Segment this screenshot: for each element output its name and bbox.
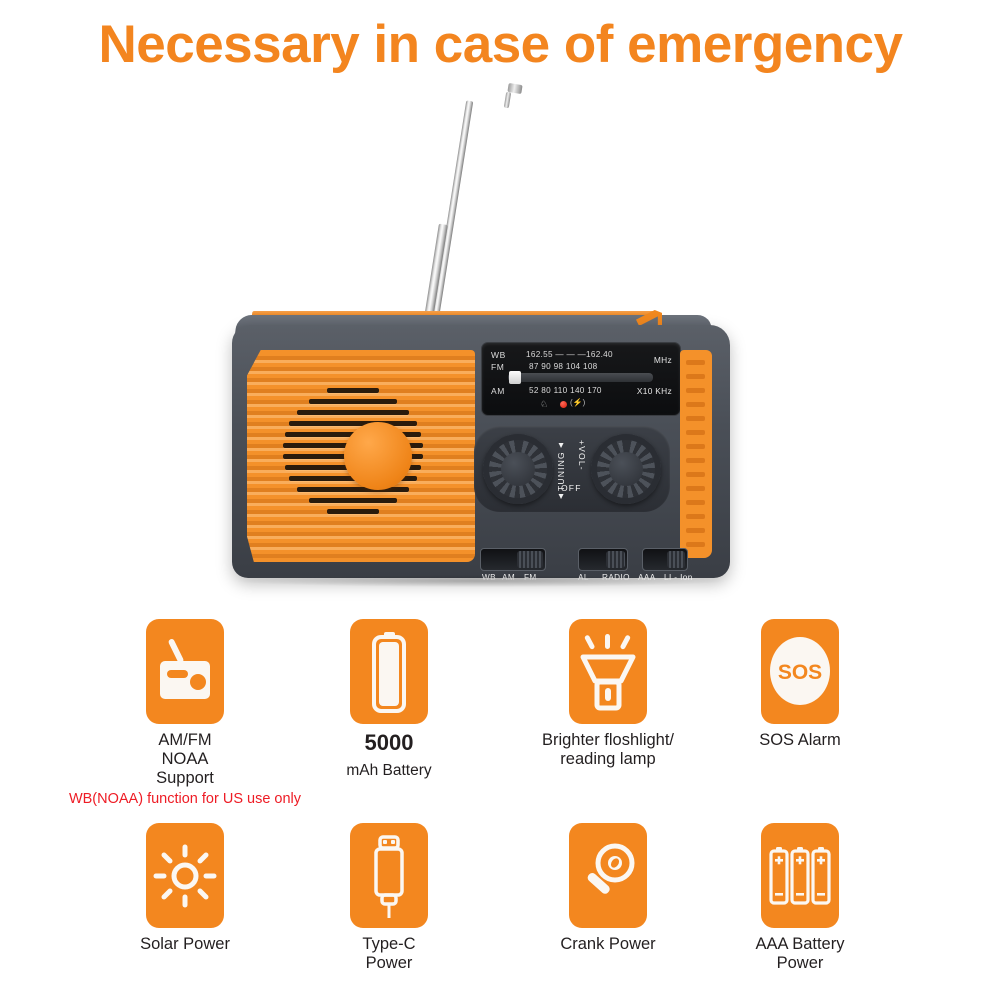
product-photo: WB FM AM 162.55 — — —162.40 87 90 98 104… xyxy=(0,78,1001,598)
bulb-indicator-icon: ♘ xyxy=(540,399,548,410)
mode-switch[interactable] xyxy=(578,548,628,571)
charging-indicator-icon: (⚡) xyxy=(570,398,585,407)
am-scale: 52 80 110 140 170 xyxy=(529,386,602,395)
knob-plate: ▲TUNING▲ +VOL- OFF xyxy=(474,426,670,512)
noaa-warning-note: WB(NOAA) function for US use only xyxy=(33,791,337,807)
feature-label: AM/FM NOAA Support xyxy=(133,731,237,788)
feature-solar-power: Solar Power xyxy=(133,823,237,954)
feature-grid: AM/FM NOAA Support 5000 mAh Battery Brig… xyxy=(0,605,1001,1001)
sos-circle-icon: SOS xyxy=(761,619,839,724)
volume-knob-label: +VOL- xyxy=(577,440,587,471)
page-title: Necessary in case of emergency xyxy=(0,14,1001,75)
radio-icon xyxy=(146,619,224,724)
hand-crank-icon xyxy=(569,823,647,928)
feature-battery-capacity: 5000 mAh Battery xyxy=(337,619,441,780)
band-label-wb: WB xyxy=(491,350,506,360)
feature-type-c-power: Type-C Power xyxy=(337,823,441,973)
feature-label: SOS Alarm xyxy=(748,731,852,750)
power-source-switch[interactable] xyxy=(642,548,688,571)
frequency-display: WB FM AM 162.55 — — —162.40 87 90 98 104… xyxy=(481,342,681,416)
unit-mhz: MHz xyxy=(654,355,672,365)
side-vent-panel xyxy=(680,350,712,558)
feature-label: Crank Power xyxy=(538,935,678,954)
feature-am-fm-noaa: AM/FM NOAA Support xyxy=(133,619,237,788)
fm-scale: 87 90 98 104 108 xyxy=(529,362,598,371)
feature-label: Solar Power xyxy=(133,935,237,954)
feature-label: Brighter floshlight/ reading lamp xyxy=(538,731,678,769)
antenna-tip-neck xyxy=(504,92,511,109)
speaker-cone xyxy=(344,422,412,490)
band-label-fm: FM xyxy=(491,362,504,372)
feature-flashlight: Brighter floshlight/ reading lamp xyxy=(538,619,678,769)
product-shadow xyxy=(238,575,724,587)
band-label-am: AM xyxy=(491,386,505,396)
aaa-batteries-icon xyxy=(761,823,839,928)
feature-aaa-battery-power: AAA Battery Power xyxy=(733,823,867,973)
feature-crank-power: Crank Power xyxy=(538,823,678,954)
flashlight-icon xyxy=(569,619,647,724)
speaker-grille xyxy=(247,350,475,562)
wb-scale: 162.55 — — —162.40 xyxy=(526,350,613,359)
charge-led-indicator xyxy=(560,401,567,408)
svg-text:SOS: SOS xyxy=(778,661,822,684)
feature-label: Type-C Power xyxy=(337,935,441,973)
off-label: OFF xyxy=(561,483,582,493)
battery-icon xyxy=(350,619,428,724)
usb-type-c-icon xyxy=(350,823,428,928)
tuning-slider-track[interactable] xyxy=(508,373,653,382)
tuning-knob[interactable] xyxy=(483,434,553,504)
feature-label: mAh Battery xyxy=(337,761,441,780)
unit-khz: X10 KHz xyxy=(637,386,672,396)
sun-icon xyxy=(146,823,224,928)
feature-label: AAA Battery Power xyxy=(733,935,867,973)
band-switch[interactable] xyxy=(480,548,546,571)
volume-knob[interactable] xyxy=(591,434,661,504)
tuning-slider-thumb[interactable] xyxy=(509,371,521,384)
feature-value: 5000 xyxy=(337,731,441,754)
feature-sos-alarm: SOS SOS Alarm xyxy=(748,619,852,750)
